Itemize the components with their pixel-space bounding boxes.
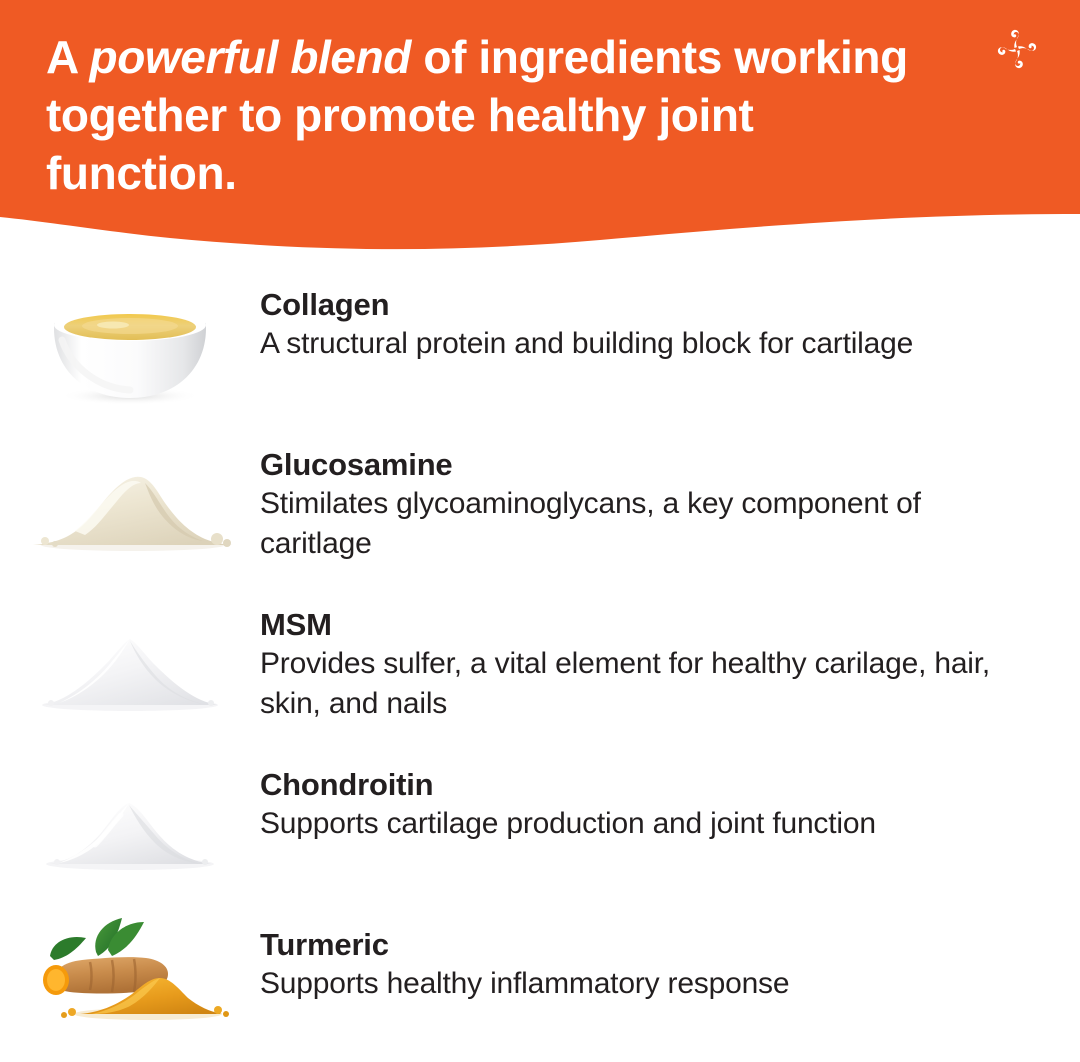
ingredient-description: Stimilates glycoaminoglycans, a key comp…: [260, 484, 1020, 564]
ingredient-thumbnail: [0, 268, 260, 428]
ingredient-description: Supports healthy inflammatory response: [260, 964, 789, 1004]
white-powder-mound-image: [25, 773, 235, 883]
turmeric-leaf: [50, 937, 86, 960]
list-item: MSM Provides sulfer, a vital element for…: [0, 588, 1080, 748]
ingredient-name: Chondroitin: [260, 766, 876, 804]
list-item: Turmeric Supports healthy inflammatory r…: [0, 908, 1080, 1026]
list-item: Collagen A structural protein and buildi…: [0, 268, 1080, 428]
four-petal-pinwheel-logo-icon: [986, 18, 1048, 80]
ingredient-name: Glucosamine: [260, 446, 1020, 484]
ingredient-copy: Turmeric Supports healthy inflammatory r…: [260, 908, 809, 1004]
turmeric-root-and-powder-image: [30, 908, 230, 1026]
headline-part-1: A: [46, 31, 90, 83]
ingredient-name: MSM: [260, 606, 1020, 644]
page-title: A powerful blend of ingredients working …: [46, 28, 926, 202]
ingredient-thumbnail: [0, 748, 260, 908]
ingredient-copy: Glucosamine Stimilates glycoaminoglycans…: [260, 428, 1040, 564]
ingredient-list: Collagen A structural protein and buildi…: [0, 268, 1080, 1026]
ingredient-copy: MSM Provides sulfer, a vital element for…: [260, 588, 1040, 724]
bowl-of-broth-image: [35, 288, 225, 408]
ingredient-copy: Collagen A structural protein and buildi…: [260, 268, 933, 364]
ingredient-name: Collagen: [260, 286, 913, 324]
white-powder-cone-image: [25, 613, 235, 723]
list-item: Glucosamine Stimilates glycoaminoglycans…: [0, 428, 1080, 588]
ingredient-name: Turmeric: [260, 926, 789, 964]
header-banner: A powerful blend of ingredients working …: [0, 0, 1080, 262]
ingredient-description: Supports cartilage production and joint …: [260, 804, 876, 844]
list-item: Chondroitin Supports cartilage productio…: [0, 748, 1080, 908]
ingredient-thumbnail: [0, 588, 260, 748]
ingredient-thumbnail: [0, 908, 260, 1026]
ingredient-thumbnail: [0, 428, 260, 588]
infographic-page: A powerful blend of ingredients working …: [0, 0, 1080, 1062]
ingredient-copy: Chondroitin Supports cartilage productio…: [260, 748, 896, 844]
cream-powder-pile-image: [15, 453, 245, 563]
ingredient-description: A structural protein and building block …: [260, 324, 913, 364]
headline-emphasis: powerful blend: [90, 31, 412, 83]
ingredient-description: Provides sulfer, a vital element for hea…: [260, 644, 1020, 724]
